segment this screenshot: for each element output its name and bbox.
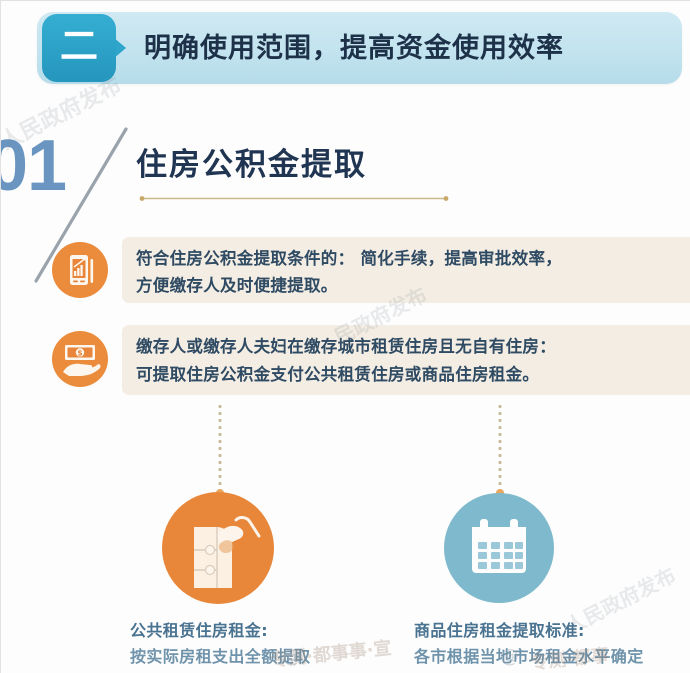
section-title: 住房公积金提取 xyxy=(136,139,367,184)
section-number: 01 xyxy=(0,125,66,207)
banner-number-badge: 二 xyxy=(42,14,116,82)
hand-money-icon: $ xyxy=(52,331,108,387)
content-text-1-line1: 符合住房公积金提取条件的： 简化手续，提高审批效率， xyxy=(136,245,562,273)
card-left-caption-title: 公共租赁住房租金: xyxy=(130,618,268,644)
hand-puzzle-icon xyxy=(162,492,274,604)
mobile-chart-icon xyxy=(52,242,108,298)
infographic-page: 二 明确使用范围，提高资金使用效率 01 住房公积金提取 符合住房公积金提取条件… xyxy=(0,0,690,673)
content-text-1-line2: 方便缴存人及时便捷提取。 xyxy=(136,272,338,300)
section-underline-rule xyxy=(138,196,450,201)
card-right-caption-detail: 各市根据当地市场租金水平确定 xyxy=(414,644,644,670)
dotted-connector-right xyxy=(498,403,502,498)
banner-title: 明确使用范围，提高资金使用效率 xyxy=(144,26,564,65)
card-right-caption-title: 商品住房租金提取标准: xyxy=(414,618,585,644)
svg-text:$: $ xyxy=(77,349,82,358)
content-text-2-line2: 可提取住房公积金支付公共租赁住房或商品住房租金。 xyxy=(136,361,539,389)
banner-badge-label: 二 xyxy=(42,14,116,82)
content-text-2-line1: 缴存人或缴存人夫妇在缴存城市租赁住房且无自有住房： xyxy=(136,333,556,361)
dotted-connector-left xyxy=(218,403,222,498)
calendar-icon xyxy=(444,493,554,603)
card-left-caption-detail: 按实际房租支出全额提取 xyxy=(130,644,310,670)
